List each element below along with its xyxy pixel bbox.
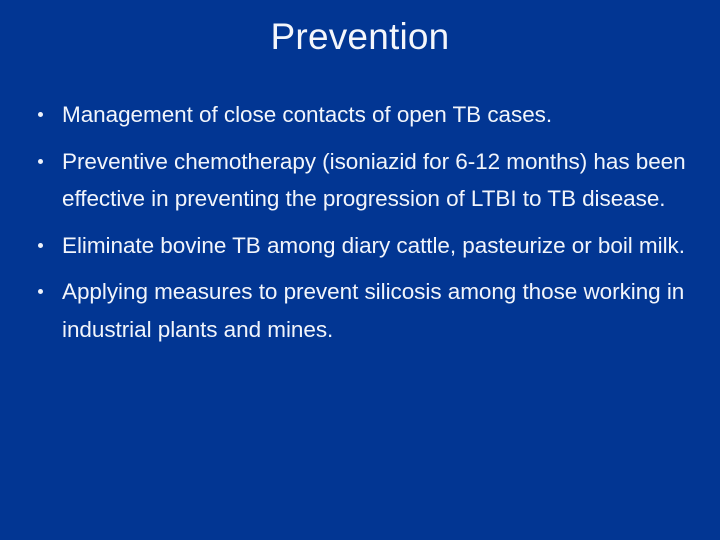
list-item: Management of close contacts of open TB … (32, 96, 696, 134)
bullet-dot-icon (38, 243, 43, 248)
list-item: Eliminate bovine TB among diary cattle, … (32, 227, 696, 265)
bullet-list: Management of close contacts of open TB … (32, 96, 696, 348)
list-item-label: Preventive chemotherapy (isoniazid for 6… (62, 143, 696, 218)
list-item-label: Eliminate bovine TB among diary cattle, … (62, 227, 696, 265)
bullet-dot-icon (38, 112, 43, 117)
list-item-label: Applying measures to prevent silicosis a… (62, 273, 696, 348)
bullet-dot-icon (38, 289, 43, 294)
page-title: Prevention (0, 18, 720, 57)
bullet-dot-icon (38, 159, 43, 164)
list-item: Applying measures to prevent silicosis a… (32, 273, 696, 348)
list-item-label: Management of close contacts of open TB … (62, 96, 696, 134)
presentation-slide: Prevention Management of close contacts … (0, 0, 720, 540)
list-item: Preventive chemotherapy (isoniazid for 6… (32, 143, 696, 218)
